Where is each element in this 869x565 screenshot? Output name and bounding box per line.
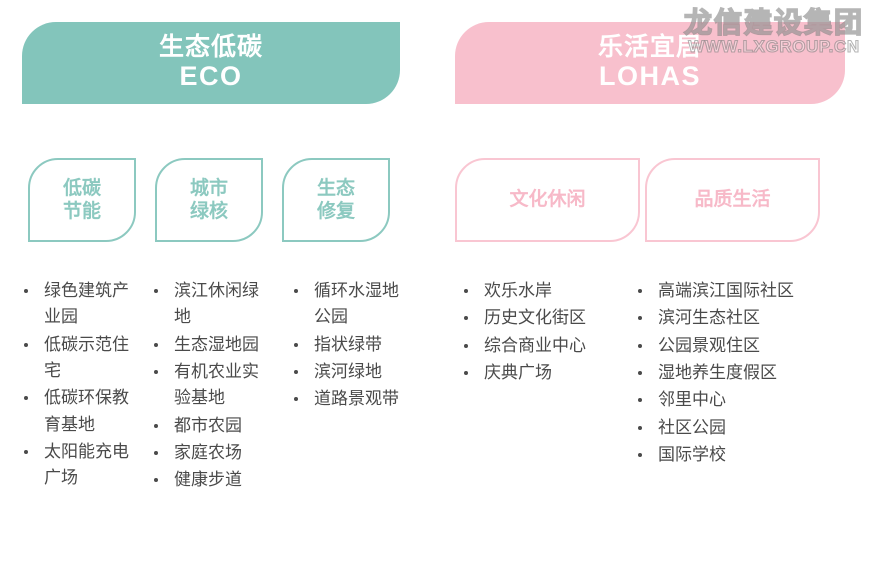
list-column-eco-3: 循环水湿地公园指状绿带滨河绿地道路景观带 — [288, 278, 408, 414]
list-item: 有机农业实验基地 — [148, 359, 270, 412]
pill-eco-urban-green-core[interactable]: 城市绿核 — [155, 158, 263, 242]
banner-lohas-title-cn: 乐活宜居 — [598, 34, 702, 61]
list-item: 低碳示范住宅 — [18, 332, 140, 385]
list-item: 低碳环保教育基地 — [18, 385, 140, 438]
list-item: 邻里中心 — [632, 387, 847, 413]
list-item: 绿色建筑产业园 — [18, 278, 140, 331]
list-item: 道路景观带 — [288, 386, 408, 412]
list-item: 高端滨江国际社区 — [632, 278, 847, 304]
list-item: 社区公园 — [632, 415, 847, 441]
list-item: 滨江休闲绿地 — [148, 278, 270, 331]
list-item: 滨河绿地 — [288, 359, 408, 385]
pill-lohas-culture-leisure[interactable]: 文化休闲 — [455, 158, 640, 242]
pill-label: 生态修复 — [317, 177, 355, 223]
list-item: 历史文化街区 — [458, 305, 613, 331]
list-item: 指状绿带 — [288, 332, 408, 358]
list-column-lohas-1: 欢乐水岸历史文化街区综合商业中心庆典广场 — [458, 278, 613, 387]
banner-eco-title-cn: 生态低碳 — [159, 34, 263, 61]
list-item: 太阳能充电广场 — [18, 439, 140, 492]
pill-label: 品质生活 — [694, 188, 770, 211]
list-column-eco-2: 滨江休闲绿地生态湿地园有机农业实验基地都市农园家庭农场健康步道 — [148, 278, 270, 495]
list-item: 湿地养生度假区 — [632, 360, 847, 386]
list-item: 综合商业中心 — [458, 333, 613, 359]
bullet-list: 绿色建筑产业园低碳示范住宅低碳环保教育基地太阳能充电广场 — [18, 278, 140, 492]
list-item: 都市农园 — [148, 413, 270, 439]
list-column-eco-1: 绿色建筑产业园低碳示范住宅低碳环保教育基地太阳能充电广场 — [18, 278, 140, 493]
pill-label: 低碳节能 — [63, 177, 101, 223]
banner-eco-title-en: ECO — [179, 62, 242, 92]
bullet-list: 高端滨江国际社区滨河生态社区公园景观住区湿地养生度假区邻里中心社区公园国际学校 — [632, 278, 847, 468]
pill-label: 城市绿核 — [190, 177, 228, 223]
bullet-list: 滨江休闲绿地生态湿地园有机农业实验基地都市农园家庭农场健康步道 — [148, 278, 270, 494]
list-item: 滨河生态社区 — [632, 305, 847, 331]
pill-lohas-quality-living[interactable]: 品质生活 — [645, 158, 820, 242]
list-item: 健康步道 — [148, 467, 270, 493]
pill-eco-low-carbon-energy-saving[interactable]: 低碳节能 — [28, 158, 136, 242]
banner-eco: 生态低碳 ECO — [22, 22, 400, 104]
bullet-list: 欢乐水岸历史文化街区综合商业中心庆典广场 — [458, 278, 613, 386]
banner-lohas-title-en: LOHAS — [599, 62, 701, 92]
pill-label: 文化休闲 — [509, 188, 585, 211]
list-item: 公园景观住区 — [632, 333, 847, 359]
list-column-lohas-2: 高端滨江国际社区滨河生态社区公园景观住区湿地养生度假区邻里中心社区公园国际学校 — [632, 278, 847, 469]
pill-eco-ecological-restoration[interactable]: 生态修复 — [282, 158, 390, 242]
list-item: 家庭农场 — [148, 440, 270, 466]
list-item: 庆典广场 — [458, 360, 613, 386]
list-item: 欢乐水岸 — [458, 278, 613, 304]
list-item: 循环水湿地公园 — [288, 278, 408, 331]
banner-lohas: 乐活宜居 LOHAS — [455, 22, 845, 104]
list-item: 国际学校 — [632, 442, 847, 468]
bullet-list: 循环水湿地公园指状绿带滨河绿地道路景观带 — [288, 278, 408, 413]
list-item: 生态湿地园 — [148, 332, 270, 358]
